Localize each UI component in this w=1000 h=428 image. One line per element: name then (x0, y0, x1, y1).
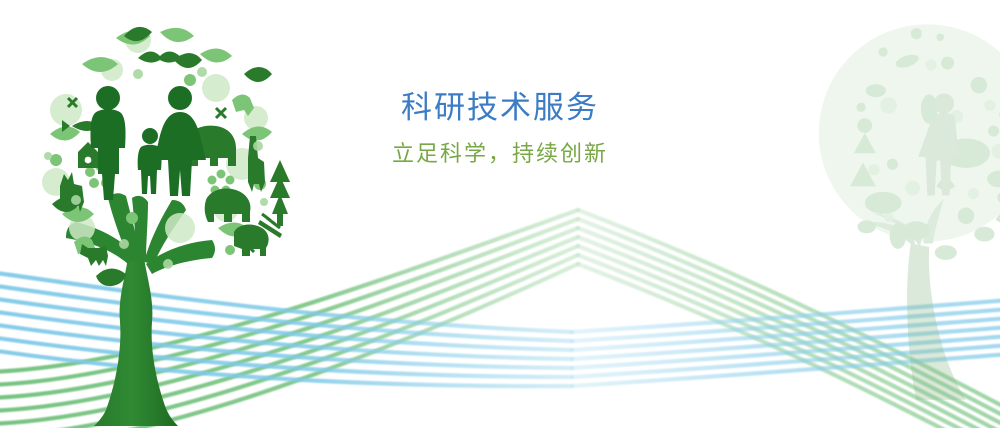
banner-subtitle: 立足科学，持续创新 (300, 143, 700, 165)
text-layer: 科研技术服务 立足科学，持续创新 (0, 0, 1000, 428)
banner-text-block: 科研技术服务 立足科学，持续创新 (300, 92, 700, 165)
banner: 科研技术服务 立足科学，持续创新 (0, 0, 1000, 428)
banner-title: 科研技术服务 (300, 92, 700, 123)
